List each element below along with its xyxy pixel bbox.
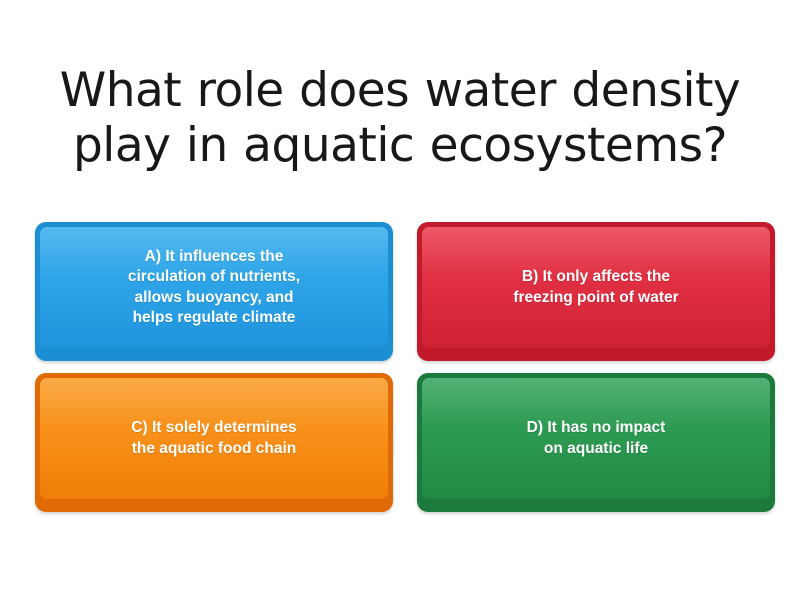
- answer-option-c-face: C) It solely determines the aquatic food…: [40, 378, 388, 499]
- answer-option-d-face: D) It has no impact on aquatic life: [422, 378, 770, 499]
- question-text: What role does water density play in aqu…: [0, 64, 800, 173]
- answer-option-b-label: B) It only affects the freezing point of…: [513, 267, 678, 307]
- answer-option-d[interactable]: D) It has no impact on aquatic life: [417, 373, 775, 512]
- question-area: What role does water density play in aqu…: [0, 64, 800, 173]
- answer-options-grid: A) It influences the circulation of nutr…: [35, 222, 775, 512]
- answer-option-d-label: D) It has no impact on aquatic life: [527, 418, 666, 458]
- answer-option-c[interactable]: C) It solely determines the aquatic food…: [35, 373, 393, 512]
- answer-option-a[interactable]: A) It influences the circulation of nutr…: [35, 222, 393, 361]
- answer-option-b[interactable]: B) It only affects the freezing point of…: [417, 222, 775, 361]
- answer-option-b-face: B) It only affects the freezing point of…: [422, 227, 770, 348]
- quiz-slide: What role does water density play in aqu…: [0, 0, 800, 600]
- answer-option-a-face: A) It influences the circulation of nutr…: [40, 227, 388, 348]
- answer-option-a-label: A) It influences the circulation of nutr…: [128, 247, 300, 328]
- answer-option-c-label: C) It solely determines the aquatic food…: [131, 418, 296, 458]
